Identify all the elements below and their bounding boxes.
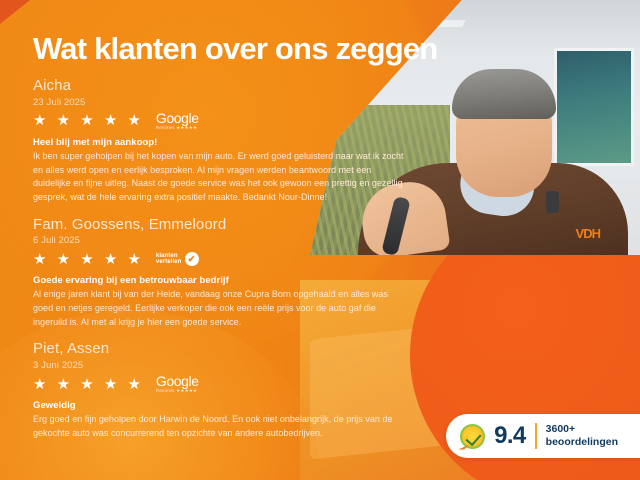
review-date: 6 Juli 2025: [33, 235, 405, 246]
review-banner: VDH Wat klanten over ons zeggen Aicha 23…: [0, 0, 640, 480]
review-title: Heel blij met mijn aankoop!: [33, 137, 405, 148]
google-reviews-logo: Google Reviews ★★★★★: [156, 111, 199, 130]
score-badge[interactable]: 9.4 3600+ beoordelingen: [446, 414, 640, 458]
review-body: Erg goed en fijn geholpen door Harwin de…: [33, 413, 405, 440]
page-title: Wat klanten over ons zeggen: [33, 0, 640, 67]
rating-row: ★ ★ ★ ★ ★ Google Reviews ★★★★★: [33, 111, 405, 131]
reviewer-name: Aicha: [33, 77, 405, 96]
star-rating-icon: ★ ★ ★ ★ ★: [33, 377, 144, 392]
klantenvertellen-logo: klanten vertellen ✔: [156, 252, 199, 266]
klantenvertellen-logo-text: klanten vertellen: [156, 253, 182, 266]
review-body: Al enige jaren klant bij van der Heide, …: [33, 288, 405, 329]
reviewer-name: Piet, Assen: [33, 340, 405, 359]
star-rating-icon: ★ ★ ★ ★ ★: [33, 113, 144, 128]
rating-row: ★ ★ ★ ★ ★ Google Reviews ★★★★★: [33, 374, 405, 394]
klantenvertellen-line-2: vertellen: [156, 259, 182, 265]
banner-content: Wat klanten over ons zeggen Aicha 23 Jul…: [0, 0, 640, 440]
review-title: Geweldig: [33, 400, 405, 411]
google-logo-subtext: Reviews ★★★★★: [156, 389, 199, 393]
google-reviews-logo: Google Reviews ★★★★★: [156, 374, 199, 393]
review-count-label: beoordelingen: [546, 436, 618, 449]
star-rating-icon: ★ ★ ★ ★ ★: [33, 252, 144, 267]
google-logo-subtext: Reviews ★★★★★: [156, 126, 199, 130]
rating-row: ★ ★ ★ ★ ★ klanten vertellen ✔: [33, 249, 405, 269]
google-logo-text: Google: [156, 374, 199, 388]
review-date: 23 Juli 2025: [33, 97, 405, 108]
review-item: Aicha 23 Juli 2025 ★ ★ ★ ★ ★ Google Revi…: [33, 77, 405, 204]
review-body: Ik ben super geholpen bij het kopen van …: [33, 150, 405, 205]
review-date: 3 Juni 2025: [33, 360, 405, 371]
review-list: Aicha 23 Juli 2025 ★ ★ ★ ★ ★ Google Revi…: [33, 77, 405, 440]
google-logo-text: Google: [156, 111, 199, 125]
score-value: 9.4: [494, 422, 526, 450]
verified-check-tail: [458, 442, 469, 450]
score-divider: [535, 423, 537, 449]
review-item: Piet, Assen 3 Juni 2025 ★ ★ ★ ★ ★ Google…: [33, 340, 405, 440]
score-count-block: 3600+ beoordelingen: [546, 423, 618, 449]
reviewer-name: Fam. Goossens, Emmeloord: [33, 216, 405, 235]
review-count: 3600+: [546, 423, 618, 436]
review-item: Fam. Goossens, Emmeloord 6 Juli 2025 ★ ★…: [33, 216, 405, 330]
check-circle-icon: ✔: [185, 252, 199, 266]
verified-check-icon: [460, 424, 485, 449]
review-title: Goede ervaring bij een betrouwbaar bedri…: [33, 275, 405, 286]
